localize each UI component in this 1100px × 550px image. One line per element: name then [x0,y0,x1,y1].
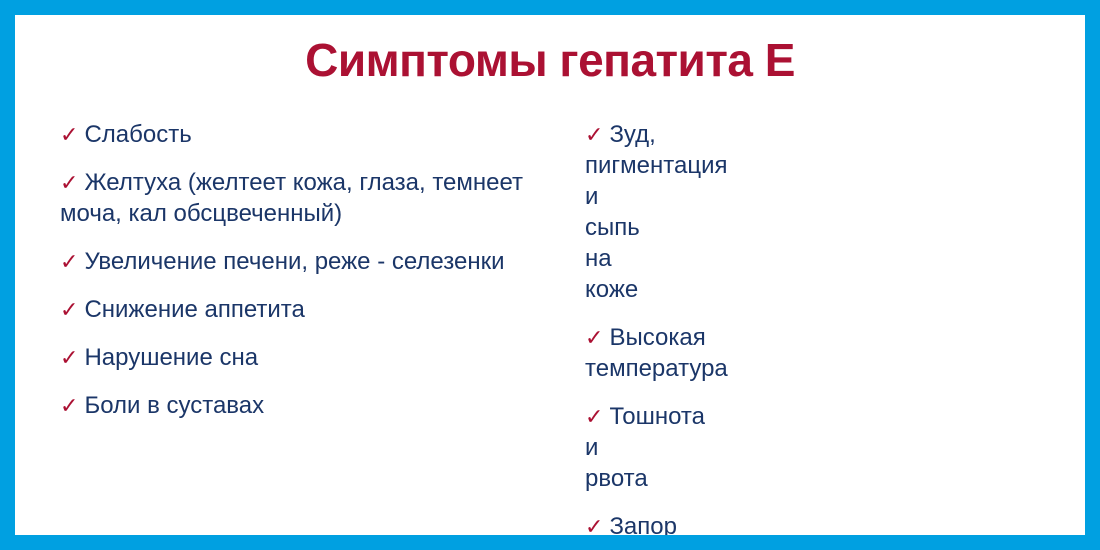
check-icon: ✓ [585,404,603,429]
check-icon: ✓ [585,514,603,539]
symptom-columns: ✓Слабость ✓Желтуха (желтеет кожа, глаза,… [15,119,1085,550]
check-icon: ✓ [60,170,78,195]
list-item-label: Запор [609,513,677,540]
list-item-label: Боли в суставах [84,392,264,419]
check-icon: ✓ [60,249,78,274]
list-item-label: Высокая температура [585,324,728,382]
list-item: ✓Желтуха (желтеет кожа, глаза, темнеет м… [60,167,540,229]
check-icon: ✓ [60,393,78,418]
list-item: ✓Увеличение печени, реже - селезенки [60,246,540,277]
list-item-label: Слабость [84,121,191,148]
page-title: Симптомы гепатита Е [15,35,1085,86]
list-item-label: Нарушение сна [84,344,258,371]
list-item: ✓Боли в суставах [60,390,540,421]
list-item: ✓Нарушение сна [60,342,540,373]
list-item: ✓Снижение аппетита [60,294,540,325]
list-item-label: Желтуха (желтеет кожа, глаза, темнеет мо… [60,169,523,227]
check-icon: ✓ [60,122,78,147]
check-icon: ✓ [585,122,603,147]
check-icon: ✓ [60,345,78,370]
list-item-label: Снижение аппетита [84,296,304,323]
check-icon: ✓ [60,297,78,322]
check-icon: ✓ [585,325,603,350]
poster-content-area: Симптомы гепатита Е ✓Слабость ✓Желтуха (… [15,15,1085,535]
list-item-label: Увеличение печени, реже - селезенки [84,248,504,275]
list-item: ✓Слабость [60,119,540,150]
list-item-label: Зуд, пигментация и сыпь на коже [585,121,727,303]
symptoms-poster: Симптомы гепатита Е ✓Слабость ✓Желтуха (… [0,0,1100,550]
